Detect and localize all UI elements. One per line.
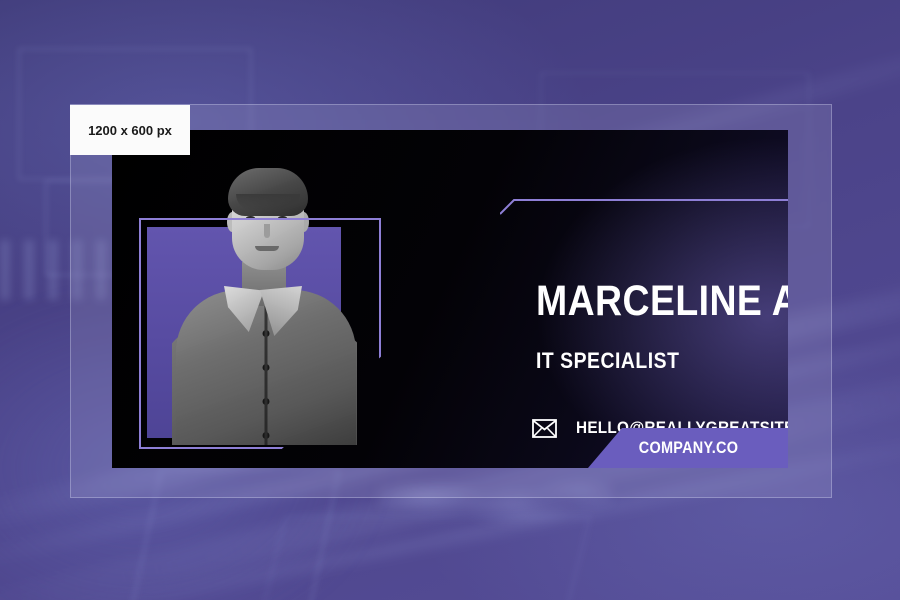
size-badge-label: 1200 x 600 px [88, 123, 172, 138]
company-banner-label: COMPANY.CO [638, 438, 737, 458]
business-card: MARCELINE ANDERSON IT SPECIALIST HELLO@R… [112, 130, 788, 468]
company-banner: COMPANY.CO [588, 428, 788, 468]
globe-icon [532, 468, 576, 469]
person-name: MARCELINE ANDERSON [536, 280, 788, 323]
person-role: IT SPECIALIST [536, 350, 679, 372]
envelope-icon [532, 419, 576, 438]
size-badge: 1200 x 600 px [70, 105, 190, 155]
header-divider [500, 192, 788, 216]
